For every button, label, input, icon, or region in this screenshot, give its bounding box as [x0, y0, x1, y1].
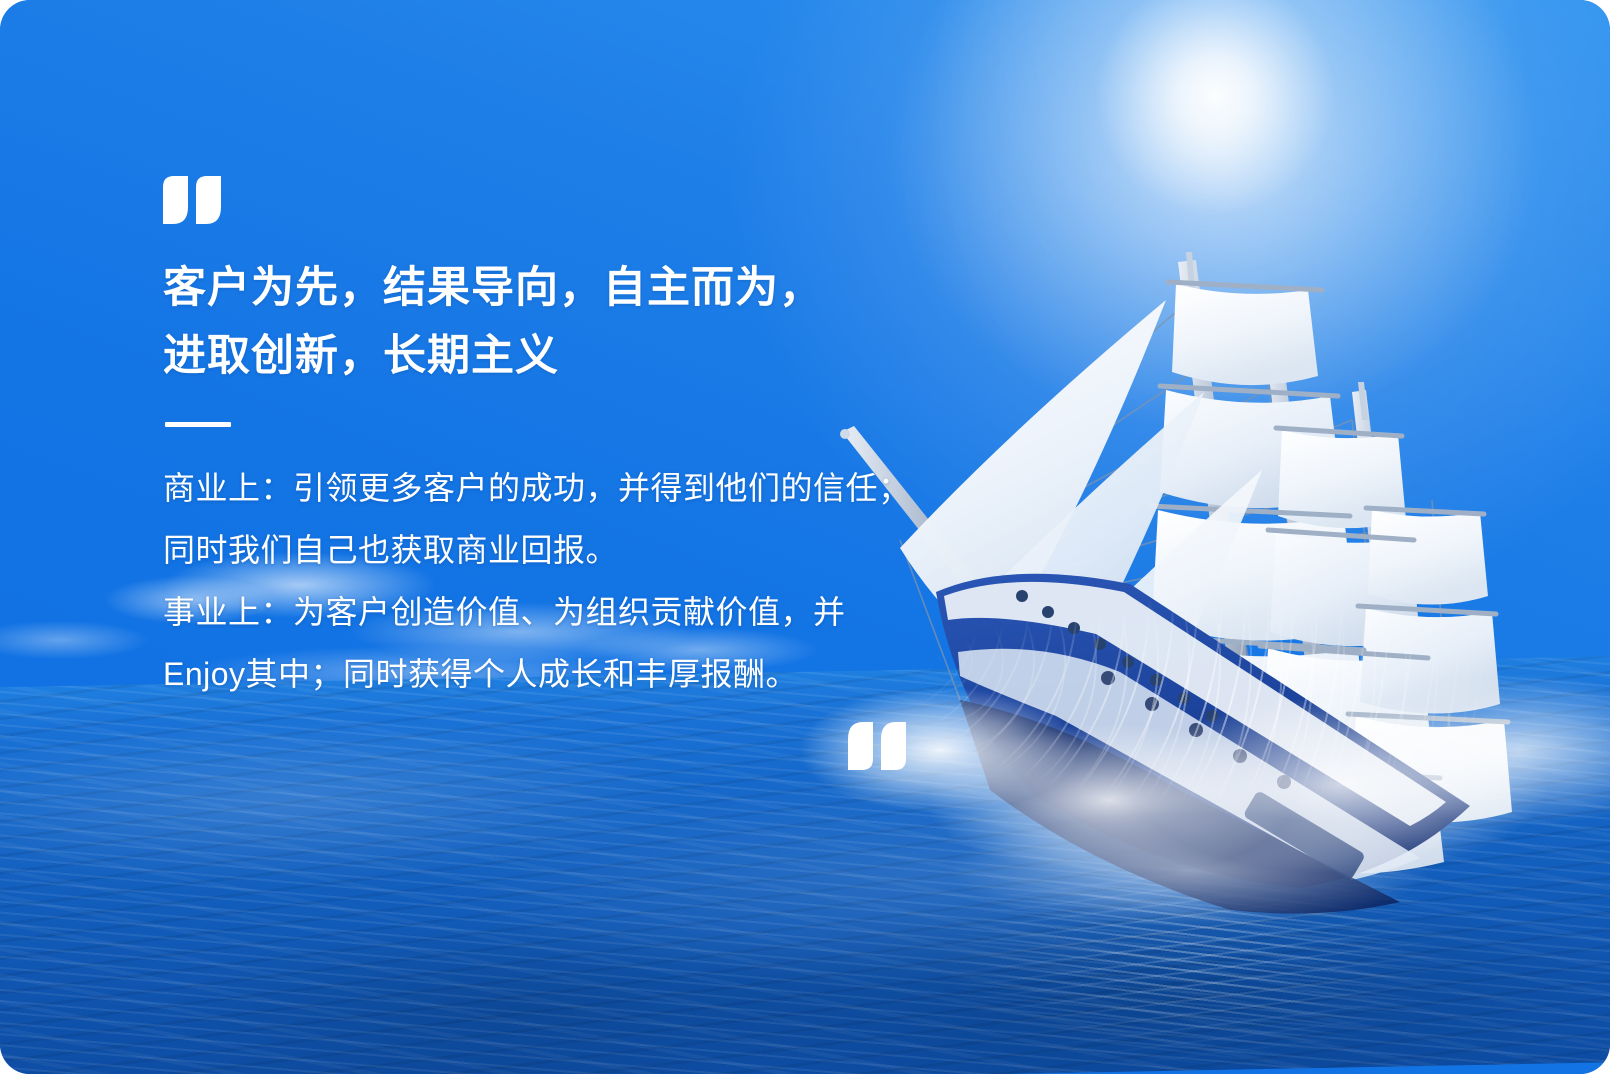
quote-content: 客户为先，结果导向，自主而为， 进取创新，长期主义 商业上：引领更多客户的成功，… — [163, 176, 923, 705]
quote-close-icon — [848, 722, 910, 770]
page-title: 客户为先，结果导向，自主而为， 进取创新，长期主义 — [163, 254, 923, 390]
quote-paragraph-career: 事业上：为客户创造价值、为组织贡献价值，并Enjoy其中；同时获得个人成长和丰厚… — [163, 581, 918, 705]
quote-open-icon — [163, 176, 225, 224]
company-values-quote-card: 客户为先，结果导向，自主而为， 进取创新，长期主义 商业上：引领更多客户的成功，… — [0, 0, 1610, 1074]
bow-spray-droplets — [820, 560, 1600, 820]
quote-body: 商业上：引领更多客户的成功，并得到他们的信任；同时我们自己也获取商业回报。 事业… — [163, 457, 918, 705]
quote-paragraph-business: 商业上：引领更多客户的成功，并得到他们的信任；同时我们自己也获取商业回报。 — [163, 457, 918, 581]
divider-rule — [165, 422, 231, 427]
